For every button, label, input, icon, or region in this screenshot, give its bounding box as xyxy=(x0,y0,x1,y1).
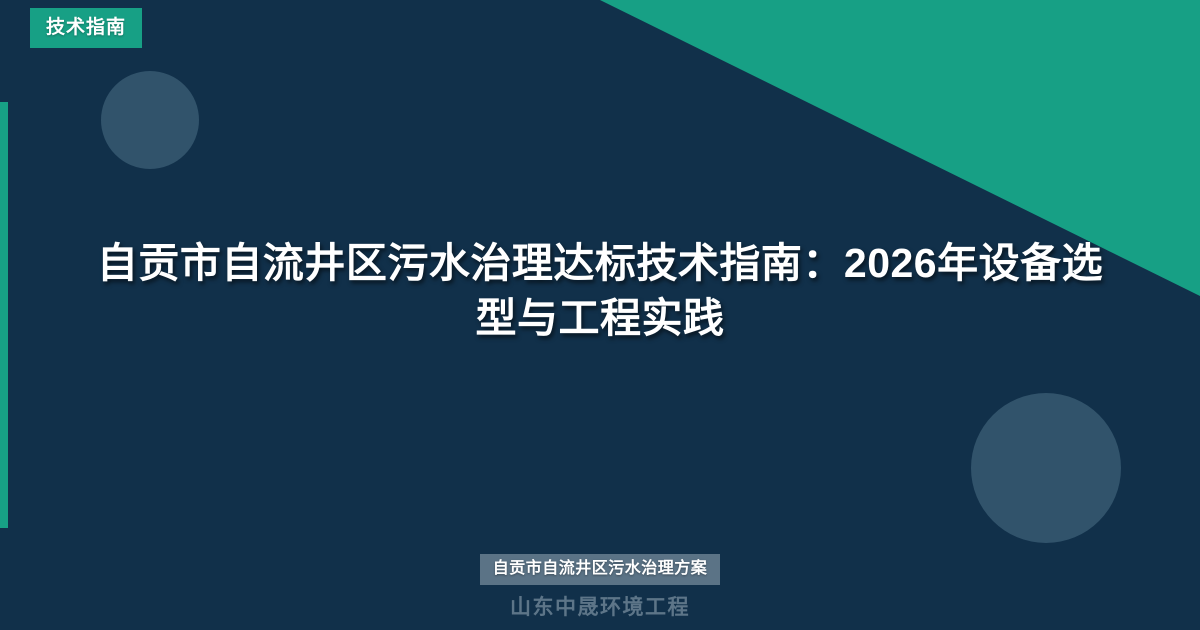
circle-top-left-decoration xyxy=(101,71,199,169)
circle-bottom-right-decoration xyxy=(971,393,1121,543)
page-title: 自贡市自流井区污水治理达标技术指南：2026年设备选型与工程实践 xyxy=(96,236,1104,347)
cover-canvas: 技术指南 自贡市自流井区污水治理达标技术指南：2026年设备选型与工程实践 自贡… xyxy=(0,0,1200,630)
category-badge: 技术指南 xyxy=(30,8,142,48)
subtitle-chip: 自贡市自流井区污水治理方案 xyxy=(480,554,721,585)
hero-title-block: 自贡市自流井区污水治理达标技术指南：2026年设备选型与工程实践 xyxy=(0,236,1200,347)
brand-name: 山东中晟环境工程 xyxy=(0,597,1200,618)
footer-block: 自贡市自流井区污水治理方案 山东中晟环境工程 xyxy=(0,554,1200,618)
